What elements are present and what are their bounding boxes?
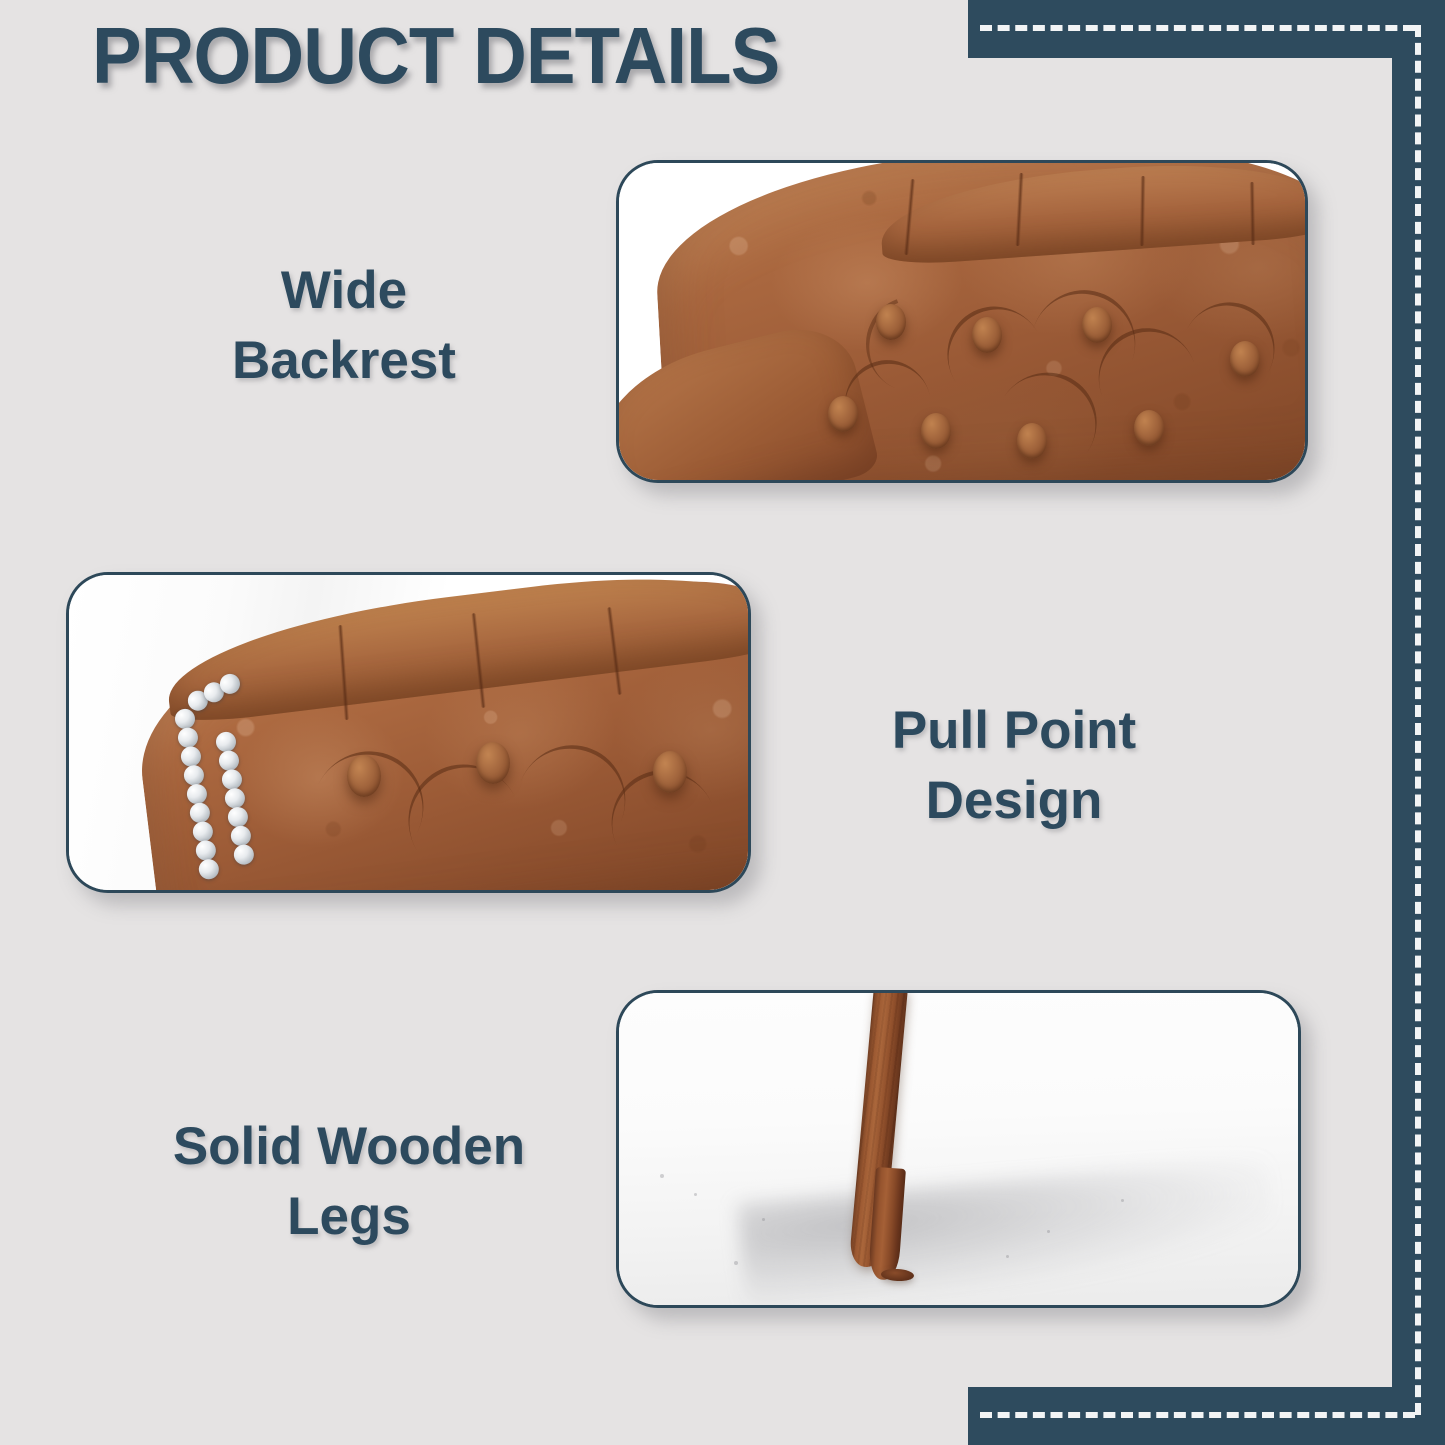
leg-floor-shadow [738, 1157, 1275, 1308]
floor-speck [694, 1193, 697, 1196]
tufting-button [972, 317, 1002, 353]
tufted-leather-backrest-photo [619, 163, 1305, 480]
photo-card-pull-point-design [66, 572, 751, 893]
tufting-button [1134, 410, 1164, 446]
feature-label-wide-backrest: Wide Backrest [148, 256, 540, 396]
dashed-line-top [980, 25, 1415, 31]
wooden-leg-photo [619, 993, 1298, 1305]
tufting-button [921, 413, 951, 449]
page-title: PRODUCT DETAILS [92, 10, 779, 102]
tufting-button [1230, 341, 1260, 377]
feature-label-pull-point-design: Pull Point Design [844, 696, 1184, 836]
floor-speck [762, 1218, 765, 1221]
photo-card-wide-backrest [616, 160, 1308, 483]
pull-point-tufting-photo [69, 575, 748, 890]
pull-point-button [347, 755, 381, 797]
tufting-button [1017, 423, 1047, 459]
dashed-line-right [1415, 25, 1421, 1415]
pull-point-button [653, 751, 687, 793]
photo-card-solid-wooden-legs [616, 990, 1301, 1308]
floor-speck [1047, 1230, 1050, 1233]
floor-speck [734, 1261, 738, 1265]
feature-label-solid-wooden-legs: Solid Wooden Legs [118, 1112, 580, 1252]
dashed-line-bottom [980, 1412, 1415, 1418]
floor-speck [660, 1174, 664, 1178]
tufting-button [828, 396, 858, 432]
